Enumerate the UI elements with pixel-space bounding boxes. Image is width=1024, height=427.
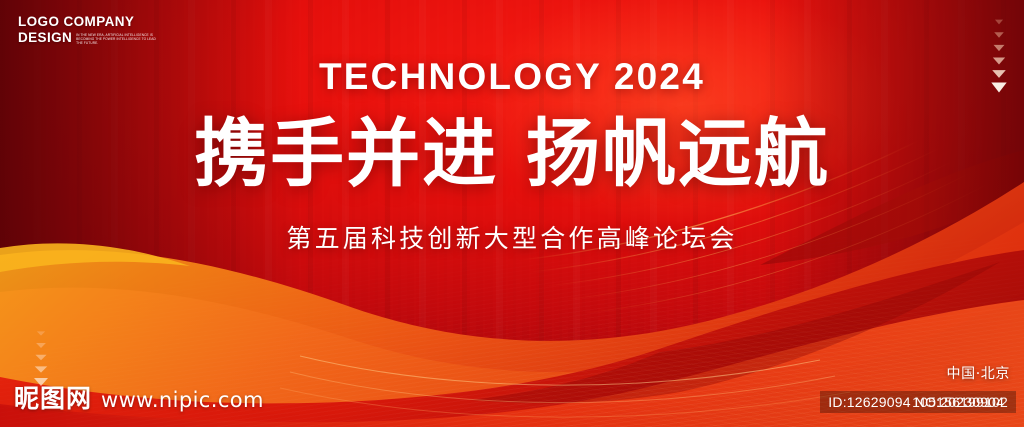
location-label: 中国·北京 <box>947 363 1010 383</box>
chevron-down-icon <box>994 45 1005 51</box>
page-eyebrow-title: TECHNOLOGY 2024 <box>0 56 1024 98</box>
chevron-down-icon <box>35 366 48 372</box>
image-id-overlap-text: 105156199102 <box>912 394 1008 410</box>
page-title: 携手并进 扬帆远航 <box>0 112 1024 196</box>
poster-canvas: LOGO COMPANY DESIGN IN THE NEW ERA, ARTI… <box>0 0 1024 427</box>
logo-company-line2: DESIGN <box>18 30 72 45</box>
chevron-down-icon <box>37 331 45 335</box>
site-brand-cn: 昵图网 <box>14 379 92 415</box>
decoration-arrows-left <box>34 330 48 386</box>
site-watermark: 昵图网 www.nipic.com <box>14 379 264 415</box>
chevron-down-icon <box>994 32 1004 37</box>
chevron-down-icon <box>35 355 46 361</box>
logo-company-line1: LOGO COMPANY <box>18 14 188 29</box>
logo-fineprint: IN THE NEW ERA, ARTIFICIAL INTELLIGENCE … <box>76 30 161 45</box>
site-url: www.nipic.com <box>101 388 264 412</box>
chevron-down-icon <box>36 343 46 348</box>
image-id-strip: ID:12629094 NO:20230904 105156199102 <box>820 391 1016 413</box>
page-subtitle: 第五届科技创新大型合作高峰论坛会 <box>0 219 1024 255</box>
chevron-down-icon <box>995 20 1003 25</box>
logo-block: LOGO COMPANY DESIGN IN THE NEW ERA, ARTI… <box>18 14 188 45</box>
